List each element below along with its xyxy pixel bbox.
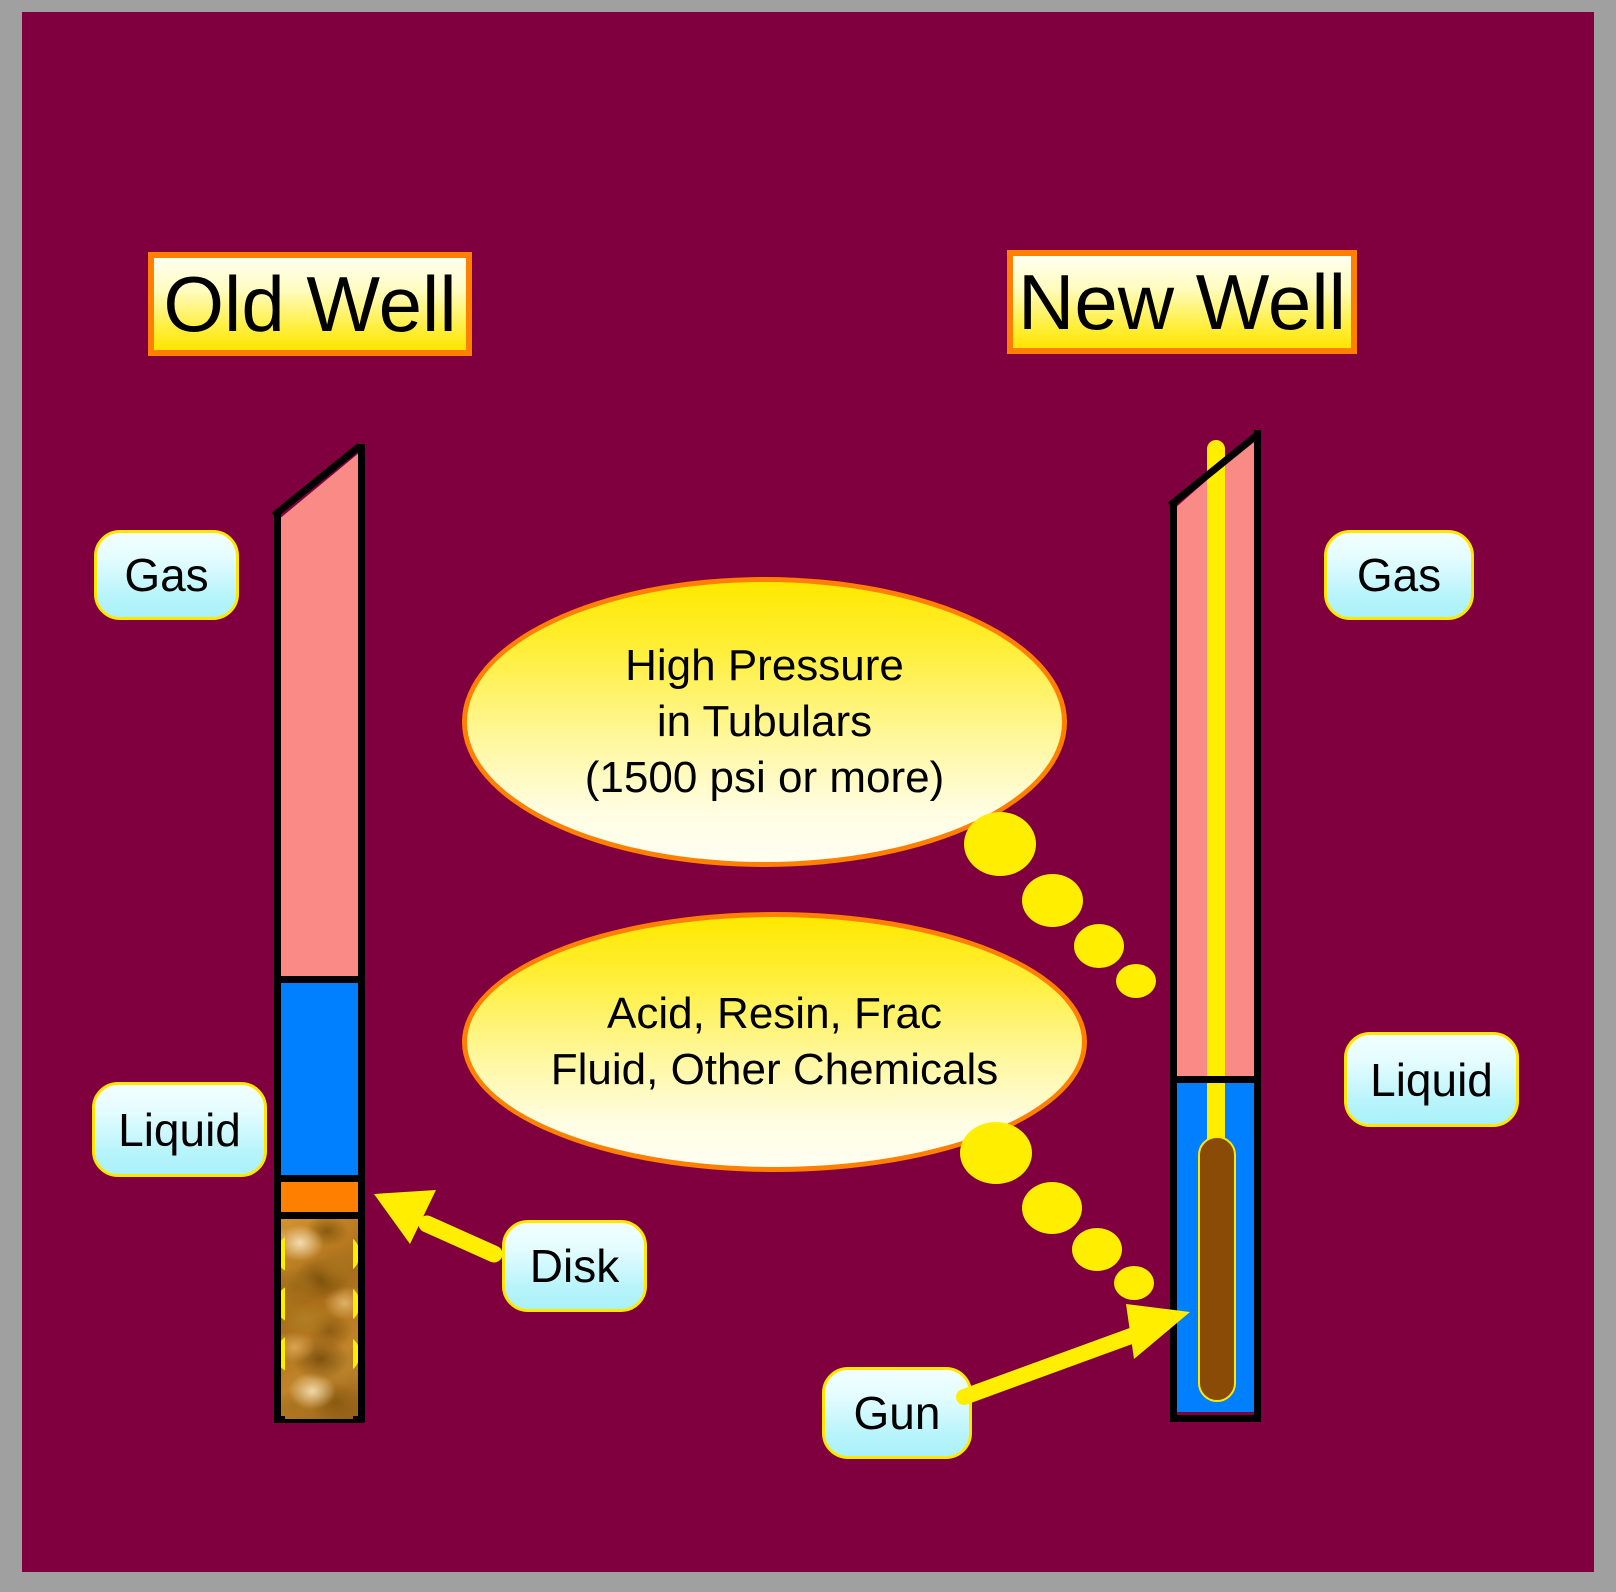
- bubble-line: Fluid, Other Chemicals: [551, 1042, 998, 1098]
- flow-dot-lower-1: [960, 1122, 1032, 1184]
- flow-dot-lower-3: [1072, 1228, 1122, 1271]
- bubble-line: in Tubulars: [657, 694, 872, 750]
- flow-dot-lower-4: [1114, 1266, 1154, 1300]
- flow-dot-upper-1: [964, 812, 1036, 876]
- disk-arrow-icon: [374, 1190, 494, 1254]
- flow-dot-upper-3: [1074, 924, 1124, 968]
- bubble-line: Acid, Resin, Frac: [607, 986, 942, 1042]
- bubble-line: (1500 psi or more): [585, 750, 944, 806]
- flow-dot-upper-2: [1022, 874, 1083, 927]
- gun-arrow-icon: [964, 1304, 1190, 1397]
- flow-dot-lower-2: [1022, 1182, 1082, 1234]
- flow-dot-upper-4: [1116, 964, 1156, 998]
- bubble-line: High Pressure: [625, 638, 904, 694]
- figure-canvas: Old Well New Well: [0, 0, 1616, 1592]
- diagram-stage: Old Well New Well: [22, 12, 1594, 1572]
